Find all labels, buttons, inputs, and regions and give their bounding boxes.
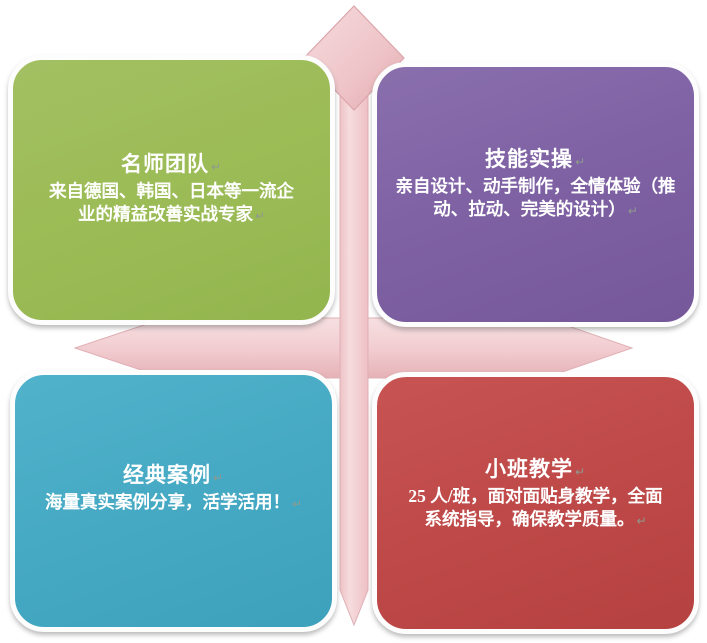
- tile-body-teacher-team: 来自德国、韩国、日本等一流企业的精益改善实战专家↵: [27, 180, 316, 226]
- tile-body-skill-practice: 亲自设计、动手制作，全情体验（推动、拉动、完美的设计）↵: [391, 175, 680, 221]
- paragraph-mark-icon: ↵: [626, 204, 638, 218]
- tile-content: 经典案例↵ 海量真实案例分享，活学活用！↵: [15, 375, 332, 514]
- paragraph-mark-icon: ↵: [290, 497, 302, 511]
- tile-body-classic-cases: 海量真实案例分享，活学活用！↵: [29, 491, 318, 514]
- tile-content: 技能实操↵ 亲自设计、动手制作，全情体验（推动、拉动、完美的设计）↵: [377, 67, 694, 221]
- quadrant-tile-skill-practice[interactable]: 技能实操↵ 亲自设计、动手制作，全情体验（推动、拉动、完美的设计）↵: [372, 62, 699, 327]
- tile-body-small-class: 25 人/班，面对面贴身教学，全面系统指导，确保教学质量。↵: [391, 485, 680, 531]
- quadrant-tile-classic-cases[interactable]: 经典案例↵ 海量真实案例分享，活学活用！↵: [10, 370, 337, 632]
- quadrant-diagram: 名师团队↵ 来自德国、韩国、日本等一流企业的精益改善实战专家↵ 技能实操↵ 亲自…: [0, 0, 707, 643]
- paragraph-mark-icon: ↵: [573, 155, 586, 169]
- tile-title-classic-cases: 经典案例↵: [29, 463, 318, 487]
- tile-title-small-class: 小班教学↵: [391, 457, 680, 481]
- paragraph-mark-icon: ↵: [634, 514, 646, 528]
- paragraph-mark-icon: ↵: [209, 160, 222, 174]
- tile-content: 名师团队↵ 来自德国、韩国、日本等一流企业的精益改善实战专家↵: [13, 60, 330, 226]
- quadrant-tile-small-class[interactable]: 小班教学↵ 25 人/班，面对面贴身教学，全面系统指导，确保教学质量。↵: [372, 372, 699, 634]
- paragraph-mark-icon: ↵: [211, 471, 224, 485]
- paragraph-mark-icon: ↵: [573, 465, 586, 479]
- tile-content: 小班教学↵ 25 人/班，面对面贴身教学，全面系统指导，确保教学质量。↵: [377, 377, 694, 531]
- paragraph-mark-icon: ↵: [253, 209, 265, 223]
- tile-title-teacher-team: 名师团队↵: [27, 152, 316, 176]
- quadrant-tile-teacher-team[interactable]: 名师团队↵ 来自德国、韩国、日本等一流企业的精益改善实战专家↵: [8, 55, 335, 325]
- tile-title-skill-practice: 技能实操↵: [391, 147, 680, 171]
